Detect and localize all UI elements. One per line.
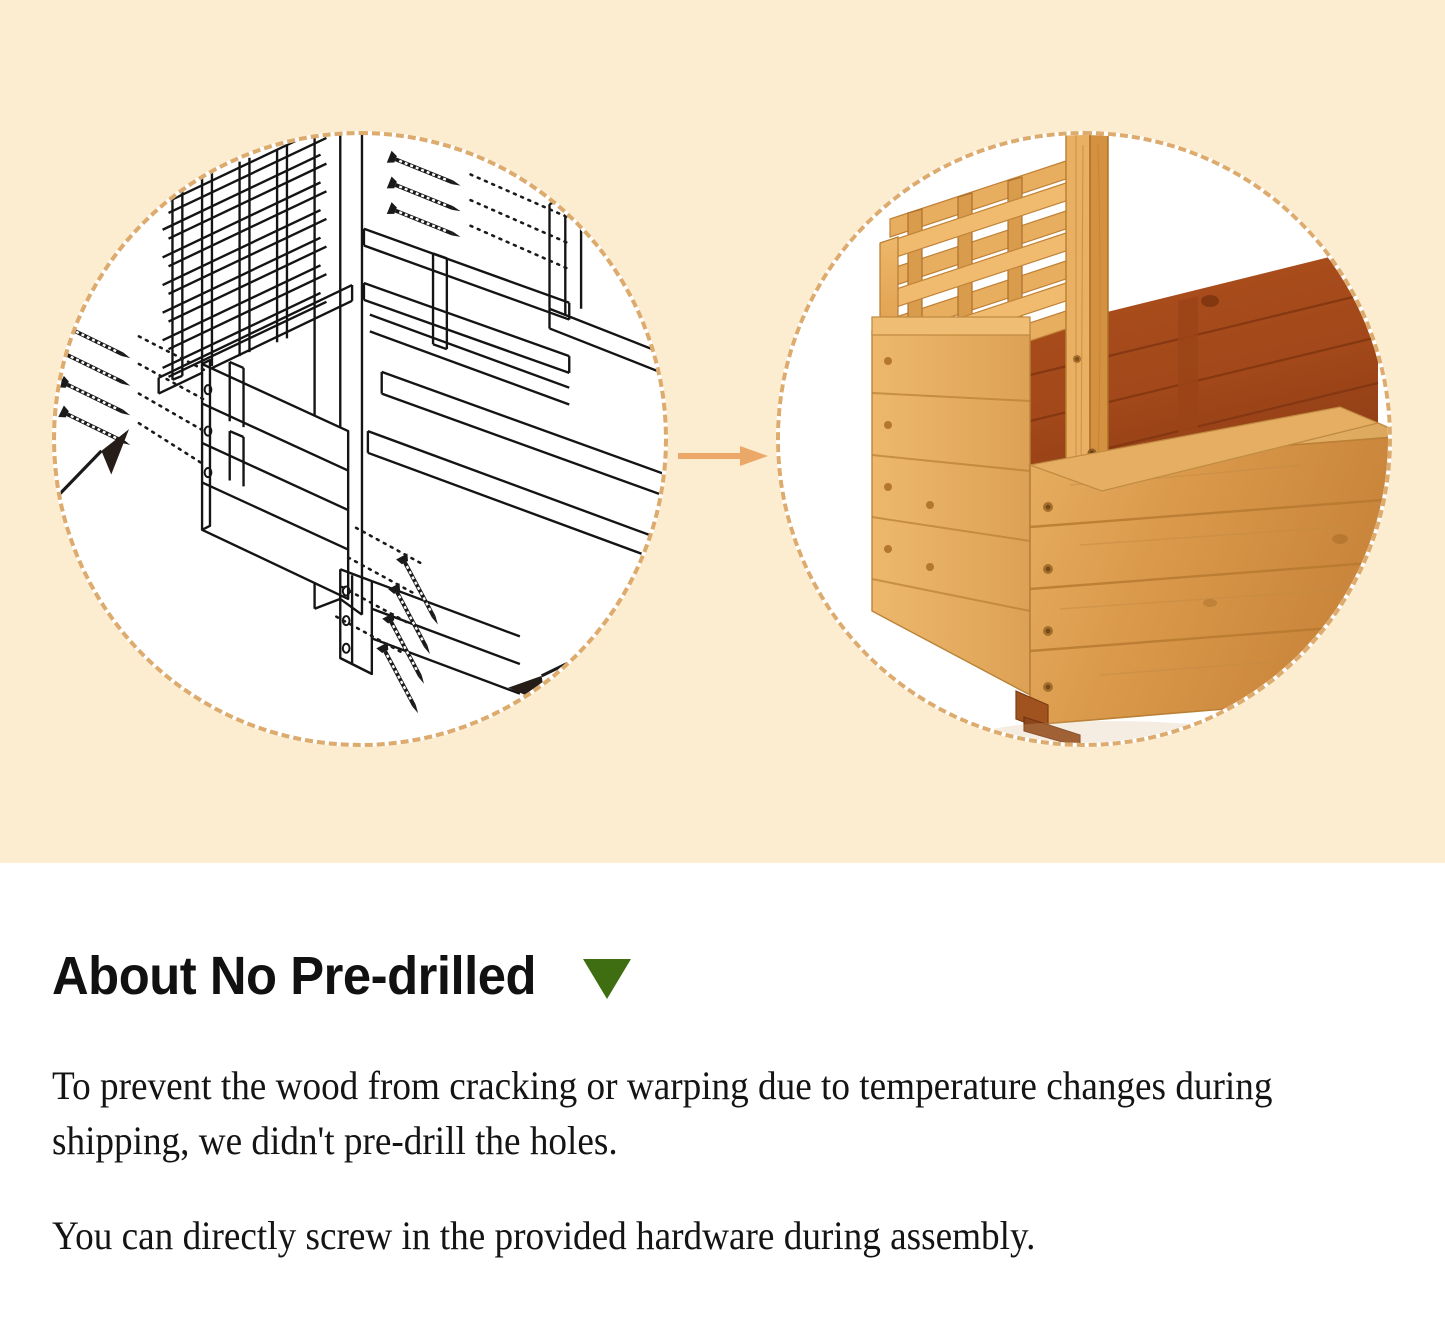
screw-group-left (58, 319, 133, 451)
screw-group-top (387, 151, 463, 243)
page-title: About No Pre-drilled (52, 945, 536, 1007)
assembled-product-photo (780, 135, 1388, 743)
trellis-lattice (159, 135, 352, 394)
section-heading: About No Pre-drilled (52, 945, 631, 1007)
bottom-rail (340, 569, 520, 693)
product-photo-circle (776, 131, 1392, 747)
text-panel: About No Pre-drilled To prevent the wood… (0, 863, 1445, 1329)
planter-box-photo (780, 135, 1392, 747)
flow-arrow-icon (678, 443, 770, 469)
illustration-panel (0, 0, 1445, 863)
corner-post-photo (1066, 135, 1108, 493)
assembly-diagram-circle (52, 131, 668, 747)
assembly-diagram-inner (56, 135, 664, 743)
product-detail-graphic: About No Pre-drilled To prevent the wood… (0, 0, 1445, 1329)
triangle-down-icon (583, 959, 631, 999)
pointer-arrow-left (56, 429, 129, 510)
screw-group-bottom (376, 553, 443, 716)
body-paragraph-2: You can directly screw in the provided h… (52, 1208, 1300, 1263)
pointer-arrow-bottom (508, 640, 615, 703)
body-paragraph-1: To prevent the wood from cracking or war… (52, 1058, 1300, 1168)
assembly-line-drawing (56, 135, 664, 743)
front-panel (202, 360, 348, 599)
screw-path-top (471, 174, 570, 269)
